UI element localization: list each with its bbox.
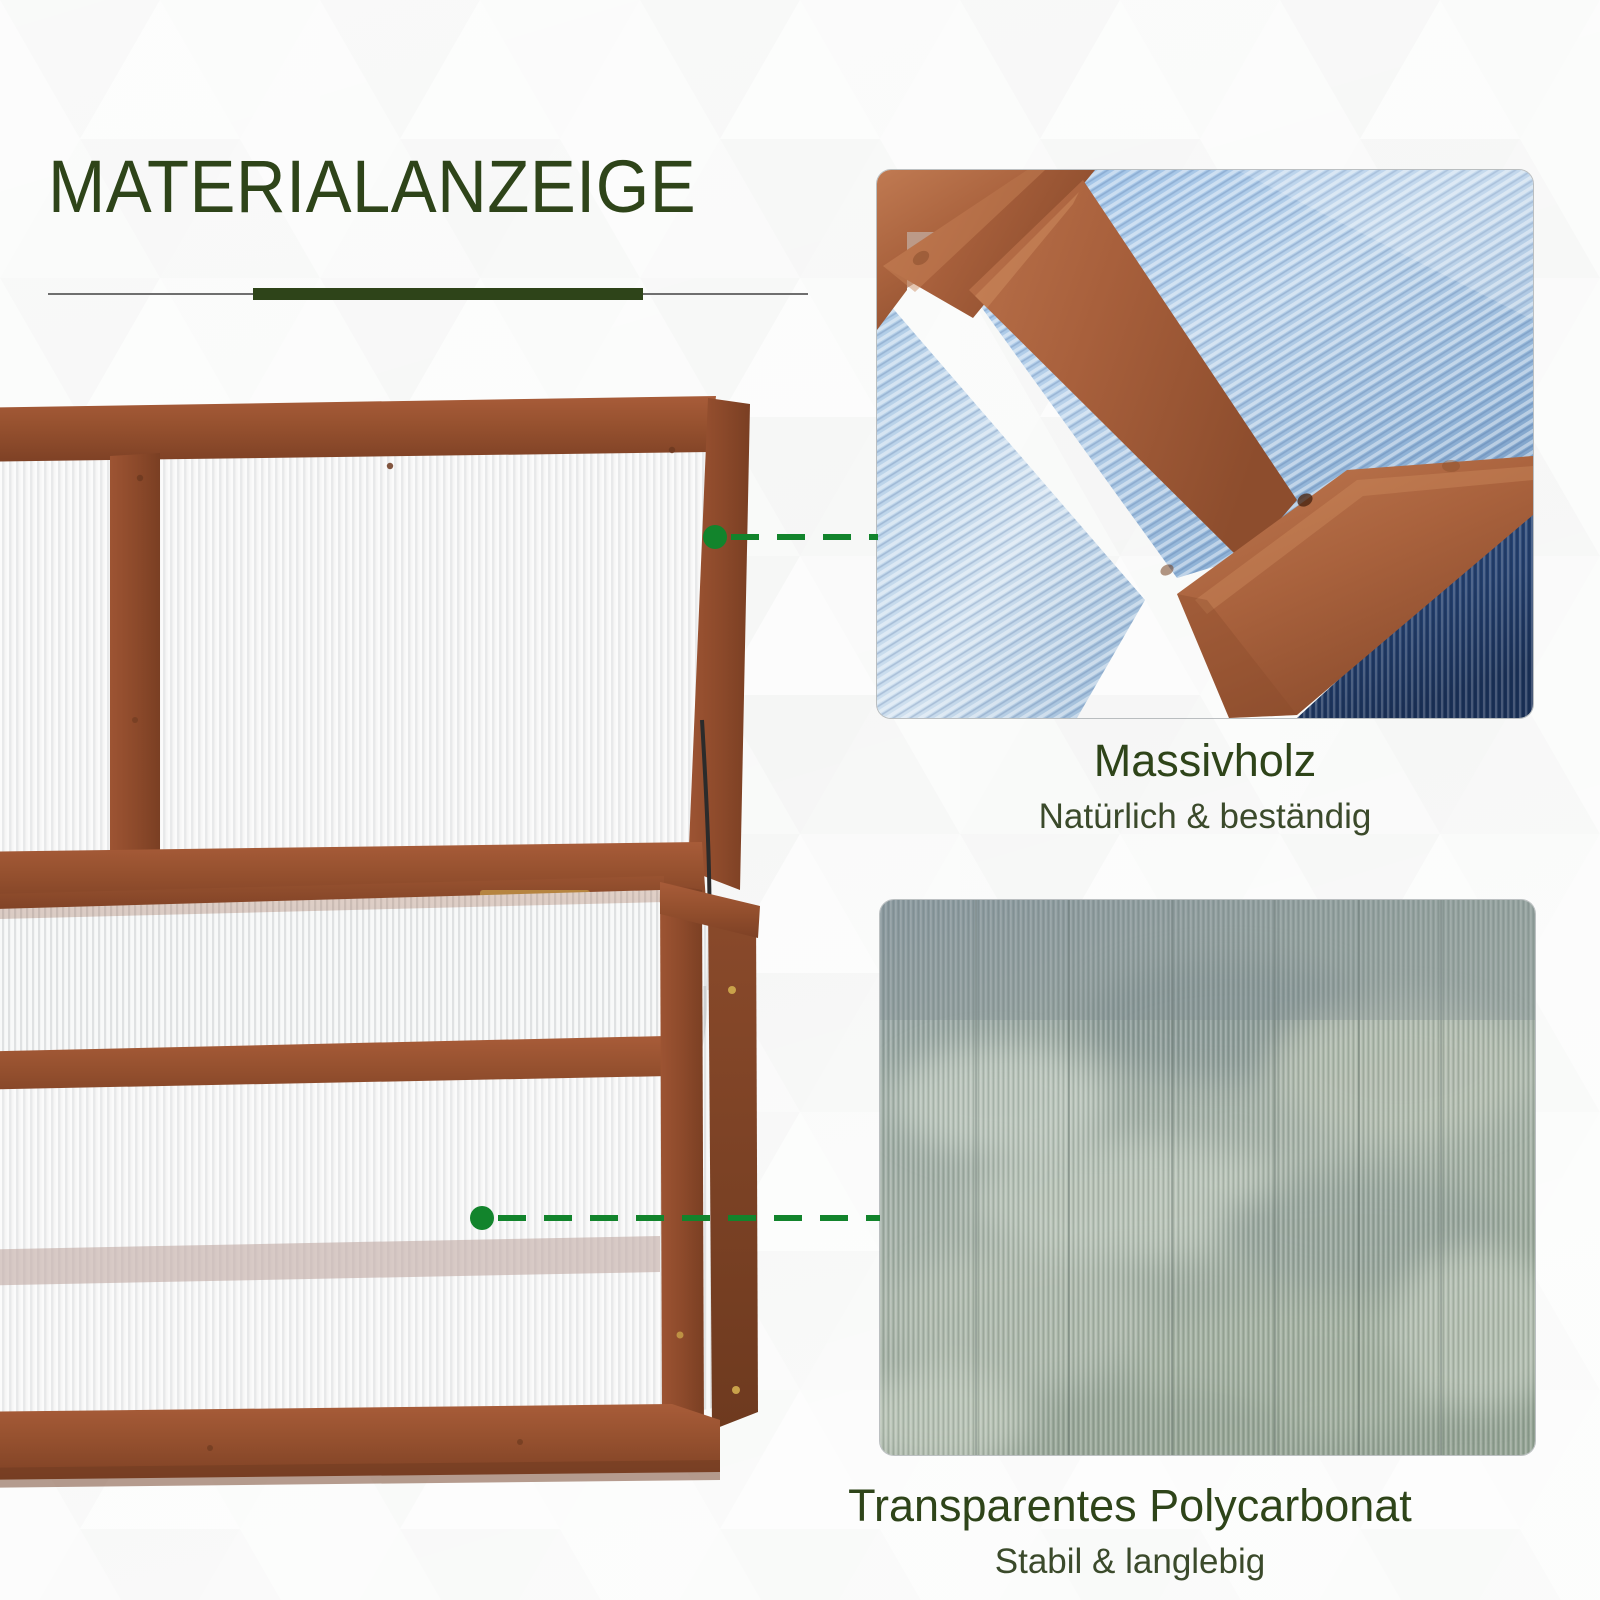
callout-dot-icon [470,1206,494,1230]
page-title: MATERIALANZEIGE [48,150,792,224]
feature-subtitle: Natürlich & beständig [905,795,1505,839]
callout-dot-icon [703,525,727,549]
feature-subtitle: Stabil & langlebig [700,1540,1560,1584]
callout-polycarbonat [470,1206,880,1230]
title-divider [48,288,808,300]
callout-massivholz [703,525,878,549]
feature-caption-massivholz: Massivholz Natürlich & beständig [905,735,1505,839]
polycarbonate-sheet-closeup-photo [880,900,1535,1455]
feature-title: Transparentes Polycarbonat [700,1480,1560,1532]
divider-accent-bar [253,288,643,300]
feature-caption-polycarbonat: Transparentes Polycarbonat Stabil & lang… [700,1480,1560,1584]
product-photo-cold-frame [0,390,800,1510]
feature-title: Massivholz [905,735,1505,787]
wood-frame-closeup-photo [877,170,1533,718]
callout-dashed-line [731,534,878,540]
callout-dashed-line [498,1215,880,1221]
